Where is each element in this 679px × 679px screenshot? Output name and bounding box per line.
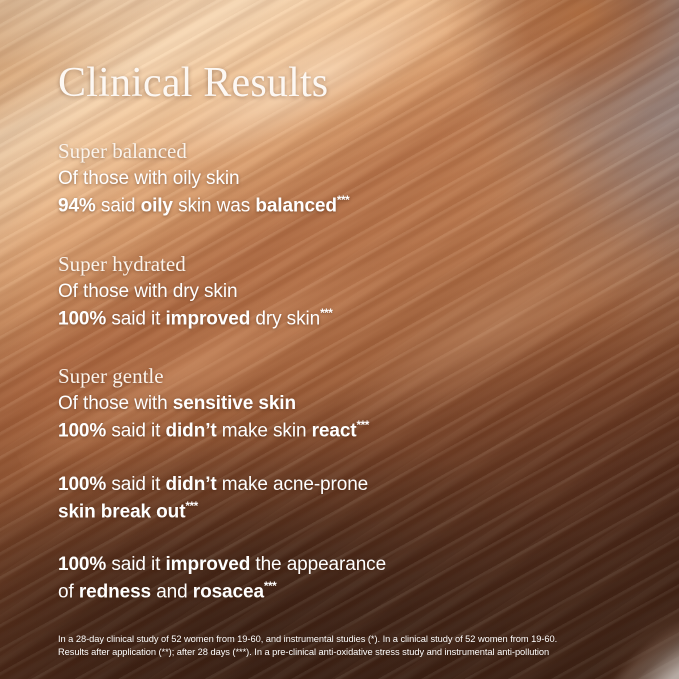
emphasis-text: redness: [79, 581, 151, 602]
emphasis-text: improved: [166, 308, 251, 329]
result-heading: Super hydrated: [58, 251, 621, 277]
emphasis-text: balanced: [255, 196, 337, 217]
emphasis-text: skin break out: [58, 501, 185, 522]
emphasis-text: 100%: [58, 308, 106, 329]
claim-line: 100% said it didn’t make acne-prone: [58, 472, 621, 499]
body-text: said it: [106, 554, 165, 575]
result-heading: Super gentle: [58, 363, 621, 389]
result-line: 100% said it improved dry skin***: [58, 306, 621, 333]
body-text: and: [151, 581, 193, 602]
body-text: the appearance: [250, 554, 386, 575]
body-text: said: [96, 196, 141, 217]
footnote-marker: ***: [337, 194, 349, 207]
result-line: Of those with dry skin: [58, 279, 621, 306]
result-block: Super balancedOf those with oily skin94%…: [58, 138, 621, 221]
body-text: skin was: [173, 196, 255, 217]
clinical-results-card: Clinical Results Super balancedOf those …: [0, 0, 679, 679]
emphasis-text: didn’t: [166, 421, 217, 442]
additional-claims-list: 100% said it didn’t make acne-proneskin …: [58, 472, 621, 607]
body-text: make acne-prone: [217, 474, 369, 495]
emphasis-text: react: [312, 421, 357, 442]
result-block: Super gentleOf those with sensitive skin…: [58, 363, 621, 446]
body-text: of: [58, 581, 79, 602]
emphasis-text: improved: [166, 554, 251, 575]
claim-line: of redness and rosacea***: [58, 579, 621, 606]
result-heading: Super balanced: [58, 138, 621, 164]
result-line: Of those with sensitive skin: [58, 391, 621, 418]
emphasis-text: rosacea: [193, 581, 264, 602]
body-text: said it: [106, 421, 165, 442]
result-block: Super hydratedOf those with dry skin100%…: [58, 251, 621, 334]
body-text: said it: [106, 474, 165, 495]
claim-line: 100% said it improved the appearance: [58, 552, 621, 579]
body-text: Of those with dry skin: [58, 281, 237, 302]
emphasis-text: oily: [141, 196, 173, 217]
footnote-disclaimer: In a 28-day clinical study of 52 women f…: [58, 633, 639, 659]
emphasis-text: 100%: [58, 474, 106, 495]
emphasis-text: 100%: [58, 421, 106, 442]
claim-paragraph: 100% said it didn’t make acne-proneskin …: [58, 472, 621, 526]
emphasis-text: sensitive skin: [173, 393, 296, 414]
body-text: make skin: [217, 421, 312, 442]
page-title: Clinical Results: [58, 62, 621, 104]
body-text: said it: [106, 308, 165, 329]
result-line: 94% said oily skin was balanced***: [58, 193, 621, 220]
footnote-marker: ***: [357, 419, 369, 432]
footnote-marker: ***: [320, 307, 332, 320]
claim-paragraph: 100% said it improved the appearanceof r…: [58, 552, 621, 606]
content-area: Clinical Results Super balancedOf those …: [0, 0, 679, 679]
body-text: Of those with oily skin: [58, 168, 239, 189]
result-line: Of those with oily skin: [58, 166, 621, 193]
body-text: dry skin: [250, 308, 320, 329]
footnote-marker: ***: [185, 500, 197, 513]
results-list: Super balancedOf those with oily skin94%…: [58, 138, 621, 446]
body-text: Of those with: [58, 393, 173, 414]
claim-line: skin break out***: [58, 499, 621, 526]
emphasis-text: 100%: [58, 554, 106, 575]
footnote-marker: ***: [264, 580, 276, 593]
emphasis-text: didn’t: [166, 474, 217, 495]
emphasis-text: 94%: [58, 196, 96, 217]
footnote-line-2: Results after application (**); after 28…: [58, 646, 639, 659]
result-line: 100% said it didn’t make skin react***: [58, 418, 621, 445]
footnote-line-1: In a 28-day clinical study of 52 women f…: [58, 633, 639, 646]
